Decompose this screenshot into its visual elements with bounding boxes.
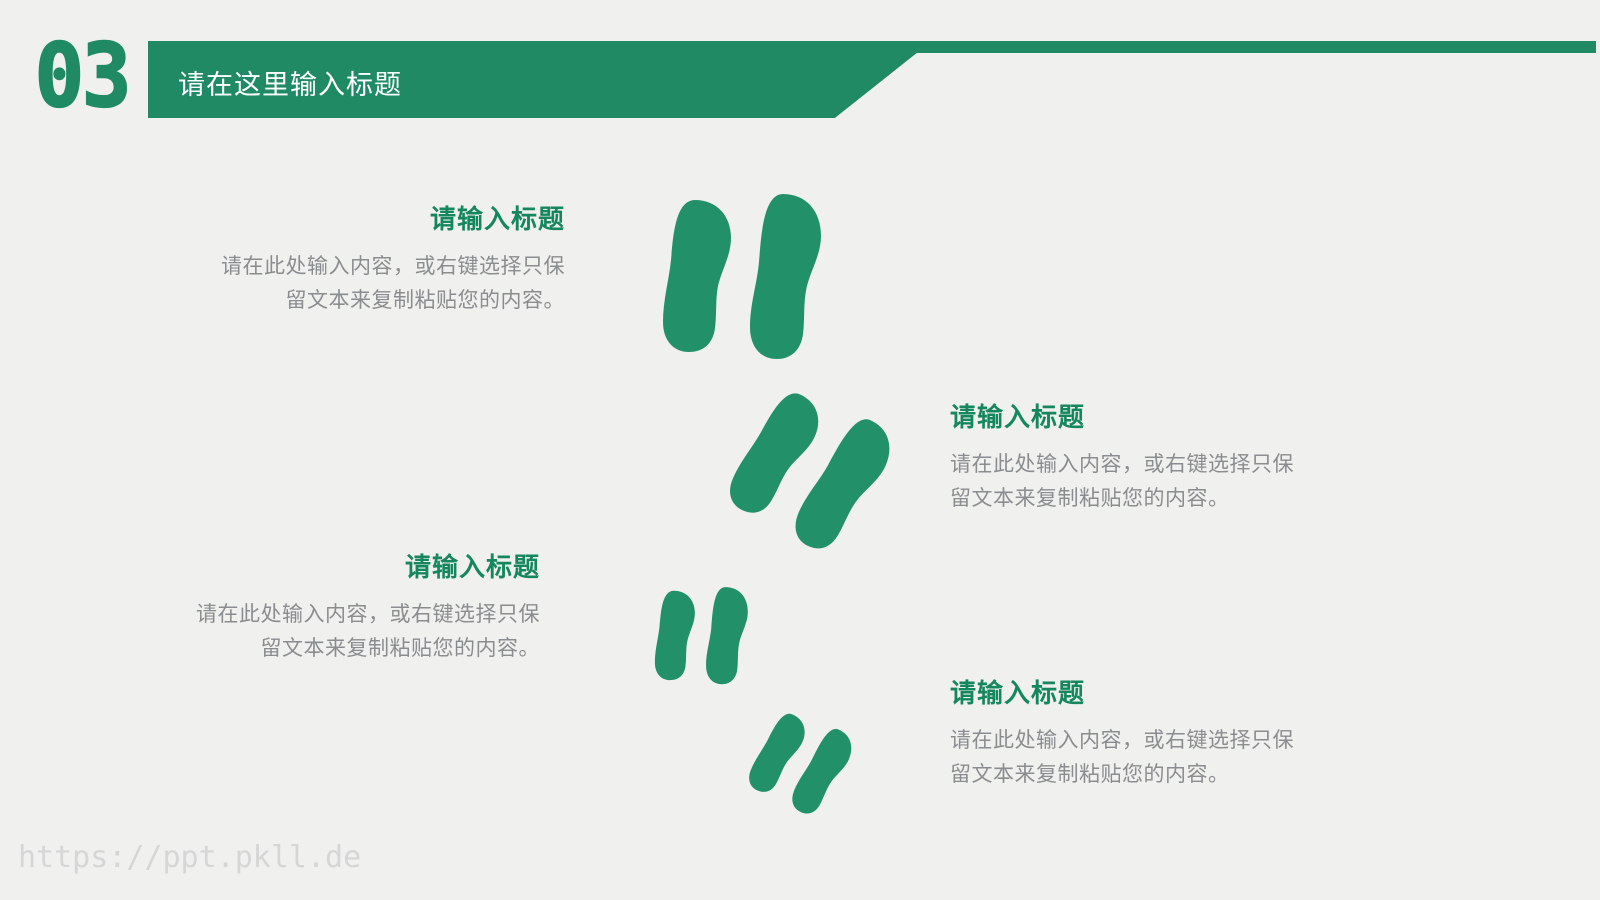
source-watermark: https://ppt.pkll.de [18, 840, 361, 875]
section-number-badge: 03 [30, 32, 134, 122]
slide-canvas: 03 请在这里输入标题 请输入标题 请在此处输入内容，或右键选择只保 留文本来复… [0, 0, 1600, 900]
slide-header: 03 请在这里输入标题 [0, 0, 1600, 140]
content-block-4-line-1: 请在此处输入内容，或右键选择只保 [950, 724, 1390, 758]
footprint-pair-4 [752, 718, 862, 814]
footprint-pair-1 [655, 192, 855, 362]
content-block-4-line-2: 留文本来复制粘贴您的内容。 [950, 758, 1390, 792]
content-block-2: 请输入标题 请在此处输入内容，或右键选择只保 留文本来复制粘贴您的内容。 [950, 403, 1390, 516]
content-block-3-line-1: 请在此处输入内容，或右键选择只保 [100, 598, 540, 632]
header-accent-bar [148, 41, 1596, 53]
content-block-4-title: 请输入标题 [950, 679, 1390, 708]
content-block-1-title: 请输入标题 [110, 205, 565, 234]
content-block-1-line-1: 请在此处输入内容，或右键选择只保 [110, 250, 565, 284]
content-block-3-title: 请输入标题 [100, 553, 540, 582]
content-block-4: 请输入标题 请在此处输入内容，或右键选择只保 留文本来复制粘贴您的内容。 [950, 679, 1390, 792]
footprint-pair-3 [650, 586, 768, 686]
footprint-icon [752, 718, 862, 814]
content-block-1-line-2: 留文本来复制粘贴您的内容。 [110, 284, 565, 318]
footprint-icon [650, 586, 768, 686]
footprint-icon [655, 192, 855, 362]
content-block-3-line-2: 留文本来复制粘贴您的内容。 [100, 632, 540, 666]
page-title: 请在这里输入标题 [178, 58, 402, 112]
content-block-1: 请输入标题 请在此处输入内容，或右键选择只保 留文本来复制粘贴您的内容。 [110, 205, 565, 318]
footprint-pair-2 [735, 400, 905, 550]
footprint-icon [735, 400, 905, 550]
content-block-3: 请输入标题 请在此处输入内容，或右键选择只保 留文本来复制粘贴您的内容。 [100, 553, 540, 666]
content-block-2-line-2: 留文本来复制粘贴您的内容。 [950, 482, 1390, 516]
content-block-2-title: 请输入标题 [950, 403, 1390, 432]
content-block-2-line-1: 请在此处输入内容，或右键选择只保 [950, 448, 1390, 482]
section-number-text: 03 [35, 33, 129, 120]
